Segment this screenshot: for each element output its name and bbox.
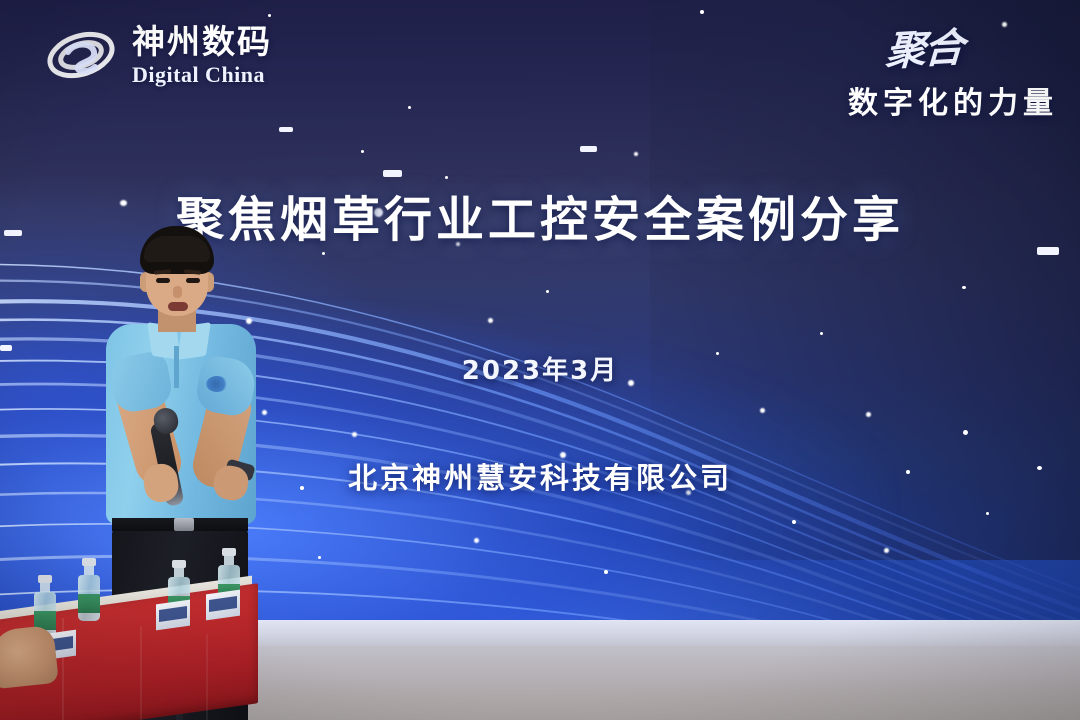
bottle-neck [84, 566, 94, 575]
bottle-neck [40, 583, 50, 592]
speaker-mouth [168, 302, 188, 311]
speaker-hair [140, 226, 214, 274]
event-mark: 聚合 数字化的力量 [848, 18, 1058, 122]
speaker-eye-right [186, 278, 200, 283]
table-fold [140, 626, 142, 720]
speaker-shirt-placket [174, 346, 179, 388]
speaker-chest-logo-icon [206, 376, 228, 392]
brand-logo: 神州数码 Digital China [44, 22, 272, 88]
conference-stage-photo: 神州数码 Digital China 聚合 数字化的力量 聚焦烟草行业工控安全案… [0, 0, 1080, 720]
bottle-neck [174, 568, 184, 577]
brand-text: 神州数码 Digital China [132, 25, 272, 86]
bottle-cap [82, 558, 96, 566]
water-bottle [78, 558, 100, 621]
event-subtitle: 数字化的力量 [848, 78, 1058, 122]
event-calligraphy: 聚合 [846, 15, 964, 79]
brand-name-cn: 神州数码 [132, 25, 272, 58]
table-fold [206, 634, 208, 720]
speaker-belt-buckle [174, 518, 194, 531]
name-placard [206, 590, 240, 621]
digital-china-swirl-icon [44, 22, 118, 88]
bottle-cap [172, 560, 186, 568]
bottle-body [78, 575, 100, 621]
bottle-neck [224, 556, 234, 565]
speaker-nose [173, 286, 182, 298]
seated-audience-member [0, 625, 59, 689]
name-placard [156, 600, 190, 631]
bottle-cap [38, 575, 52, 583]
brand-name-en: Digital China [132, 64, 272, 86]
bottle-label [78, 594, 100, 613]
speaker-eye-left [156, 278, 170, 283]
bottle-cap [222, 548, 236, 556]
placard-strip [159, 606, 187, 622]
placard-strip [209, 596, 237, 612]
